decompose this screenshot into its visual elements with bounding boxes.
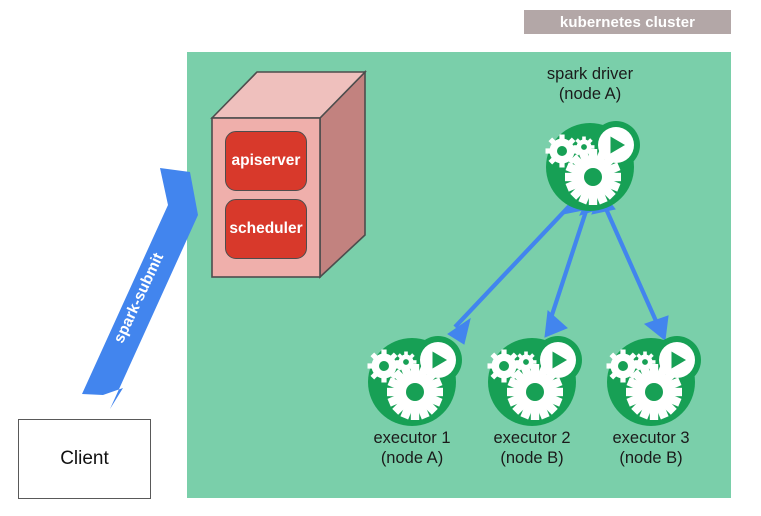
driver-executor-connections xyxy=(448,191,668,344)
executor-1-label: executor 1 (node A) xyxy=(342,428,482,468)
executor-1-name: executor 1 xyxy=(373,429,450,447)
spark-driver-label: spark driver (node A) xyxy=(520,64,660,104)
executor-1-node[interactable] xyxy=(368,336,463,426)
executor-3-node-id: (node B) xyxy=(581,448,721,468)
executor-3-node[interactable] xyxy=(607,336,702,426)
spark-driver-name: spark driver xyxy=(547,65,633,83)
executor-1-node-id: (node A) xyxy=(342,448,482,468)
executor-3-label: executor 3 (node B) xyxy=(581,428,721,468)
executor-2-node[interactable] xyxy=(488,336,583,426)
component-apiserver[interactable]: apiserver xyxy=(225,131,307,191)
connection-driver-executor-3 xyxy=(592,191,668,340)
client-box[interactable]: Client xyxy=(18,419,151,499)
spark-driver-node-id: (node A) xyxy=(520,84,660,104)
executor-2-name: executor 2 xyxy=(493,429,570,447)
diagram-canvas: kubernetes cluster xyxy=(0,0,761,516)
component-scheduler[interactable]: scheduler xyxy=(225,199,307,259)
executor-3-name: executor 3 xyxy=(612,429,689,447)
spark-submit-arrow: spark-submit xyxy=(82,168,198,409)
spark-driver-node[interactable] xyxy=(546,121,641,211)
